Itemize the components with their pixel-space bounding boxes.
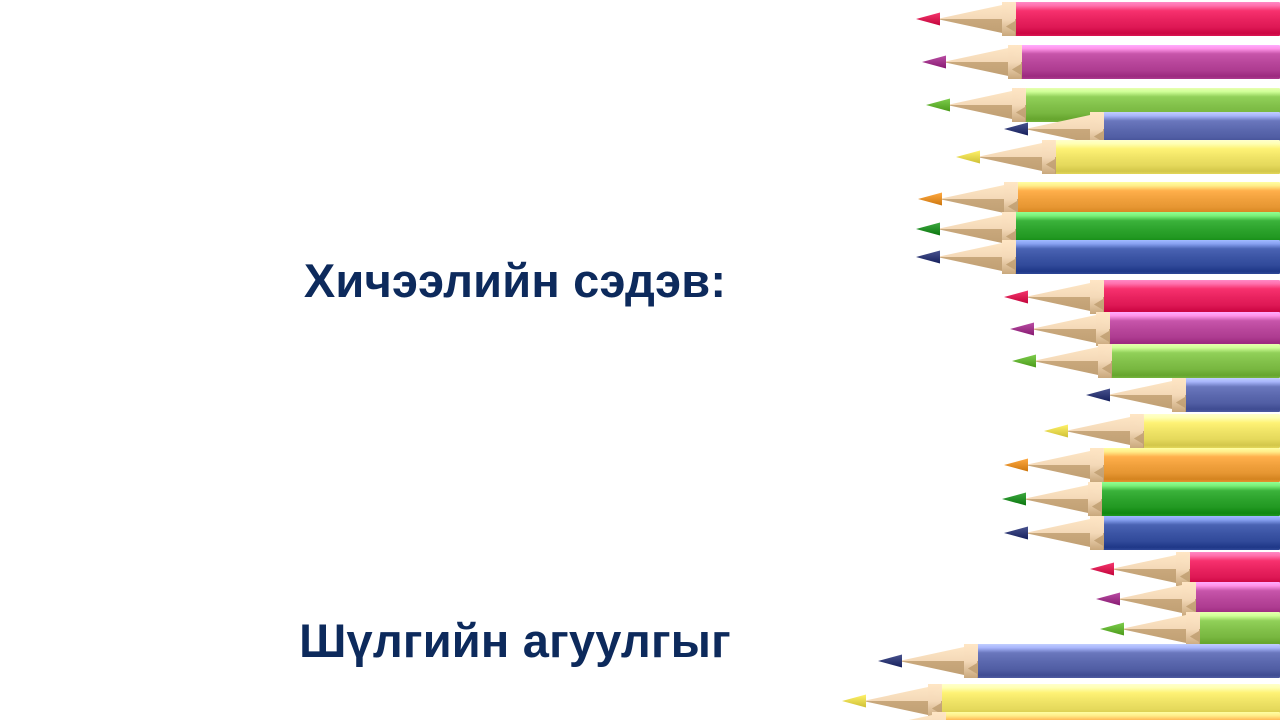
pencil-wood-upper bbox=[1107, 378, 1186, 395]
pencil-wood-lower bbox=[1025, 533, 1104, 550]
pencil-lead-tip bbox=[918, 193, 942, 206]
pencil-wood-upper bbox=[1117, 582, 1196, 599]
slide-subtitle-line-1: Шүлгийн агуулгыг bbox=[120, 610, 910, 671]
pencil-collar bbox=[1004, 182, 1017, 216]
pencil-wood-lower bbox=[899, 661, 978, 678]
pencil bbox=[1002, 482, 1280, 516]
pencil-barrel bbox=[1131, 414, 1280, 448]
pencil-collar bbox=[1090, 280, 1103, 314]
pencil-barrel bbox=[1091, 280, 1280, 314]
pencil-collar bbox=[1090, 112, 1103, 146]
pencil-wood-cone bbox=[1025, 448, 1104, 482]
pencil-collar bbox=[1096, 312, 1109, 346]
pencil-wood-cone bbox=[1111, 552, 1190, 586]
pencil-wood-cone bbox=[1121, 612, 1200, 646]
pencil-wood-lower bbox=[937, 257, 1016, 274]
pencil bbox=[1004, 112, 1280, 146]
slide-title-block: Хичээлийн сэдэв: Шүлгийн агуулгыг зургаа… bbox=[120, 128, 910, 720]
pencil bbox=[1086, 378, 1280, 412]
pencil-wood-lower bbox=[1121, 629, 1200, 646]
pencil bbox=[922, 45, 1280, 79]
pencil-wood-upper bbox=[1033, 344, 1112, 361]
pencil-wood-upper bbox=[1025, 112, 1104, 129]
pencil-wood-cone bbox=[899, 644, 978, 678]
pencil-barrel bbox=[1091, 112, 1280, 146]
pencil-lead-tip bbox=[916, 223, 940, 236]
pencil-collar bbox=[1008, 45, 1021, 79]
pencil-wood-lower bbox=[1107, 395, 1186, 412]
pencil bbox=[1004, 448, 1280, 482]
pencil-wood-cone bbox=[937, 212, 1016, 246]
pencil bbox=[1090, 552, 1280, 586]
pencil-wood-cone bbox=[937, 240, 1016, 274]
pencil-collar bbox=[1042, 140, 1055, 174]
pencil-lead-tip bbox=[916, 13, 940, 26]
pencil-lead-tip bbox=[922, 56, 946, 69]
pencil-collar bbox=[1130, 414, 1143, 448]
pencil-barrel bbox=[1091, 448, 1280, 482]
pencil-collar bbox=[1012, 88, 1025, 122]
pencil-wood-lower bbox=[1031, 329, 1110, 346]
pencil-lead-tip bbox=[1004, 291, 1028, 304]
pencil-wood-cone bbox=[977, 140, 1056, 174]
pencil-barrel bbox=[933, 712, 1280, 720]
pencil bbox=[916, 212, 1280, 246]
pencil-barrel bbox=[1005, 182, 1280, 216]
pencil-barrel bbox=[1183, 582, 1280, 616]
pencil-lead-tip bbox=[1086, 389, 1110, 402]
pencil-lead-tip bbox=[1100, 623, 1124, 636]
pencil-barrel bbox=[1091, 516, 1280, 550]
pencil-wood-upper bbox=[947, 88, 1026, 105]
pencil-wood-upper bbox=[1065, 414, 1144, 431]
pencil bbox=[1096, 582, 1280, 616]
pencil bbox=[1012, 344, 1280, 378]
pencil-wood-upper bbox=[1111, 552, 1190, 569]
pencil-wood-lower bbox=[939, 199, 1018, 216]
pencil-wood-lower bbox=[1111, 569, 1190, 586]
pencil-wood-upper bbox=[943, 45, 1022, 62]
pencil-wood-upper bbox=[1025, 516, 1104, 533]
pencil-wood-lower bbox=[1025, 297, 1104, 314]
pencil-barrel bbox=[1089, 482, 1280, 516]
pencil-barrel bbox=[1187, 612, 1280, 646]
pencil-barrel bbox=[965, 644, 1280, 678]
pencil-barrel bbox=[1003, 2, 1280, 36]
pencil-wood-lower bbox=[1065, 431, 1144, 448]
pencil-collar bbox=[1090, 448, 1103, 482]
pencil bbox=[918, 182, 1280, 216]
pencil-wood-cone bbox=[937, 2, 1016, 36]
pencil-wood-lower bbox=[1033, 361, 1112, 378]
pencil bbox=[1100, 612, 1280, 646]
pencil-collar bbox=[964, 644, 977, 678]
pencil-lead-tip bbox=[1004, 459, 1028, 472]
pencil-wood-upper bbox=[937, 2, 1016, 19]
pencil-collar bbox=[1098, 344, 1111, 378]
pencil-wood-cone bbox=[939, 182, 1018, 216]
pencil-wood-cone bbox=[943, 45, 1022, 79]
pencil-collar bbox=[1172, 378, 1185, 412]
pencil-wood-upper bbox=[1121, 612, 1200, 629]
pencil bbox=[916, 240, 1280, 274]
pencil bbox=[916, 2, 1280, 36]
pencil-wood-lower bbox=[947, 105, 1026, 122]
pencil-barrel bbox=[1177, 552, 1280, 586]
pencil-collar bbox=[1088, 482, 1101, 516]
pencil-wood-cone bbox=[1025, 516, 1104, 550]
pencil-wood-cone bbox=[1117, 582, 1196, 616]
pencil bbox=[956, 140, 1280, 174]
pencil-collar bbox=[1002, 2, 1015, 36]
pencil-barrel bbox=[1173, 378, 1280, 412]
pencil-barrel bbox=[1003, 212, 1280, 246]
pencil-wood-upper bbox=[937, 212, 1016, 229]
page-title: Хичээлийн сэдэв: bbox=[120, 250, 910, 311]
pencil-wood-upper bbox=[1025, 448, 1104, 465]
pencil-barrel bbox=[1099, 344, 1280, 378]
pencil-collar bbox=[1176, 552, 1189, 586]
pencil-wood-upper bbox=[939, 182, 1018, 199]
pencil bbox=[1044, 414, 1280, 448]
pencil-barrel bbox=[1097, 312, 1280, 346]
pencil-lead-tip bbox=[1002, 493, 1026, 506]
pencil-wood-cone bbox=[947, 88, 1026, 122]
pencil-wood-cone bbox=[1025, 280, 1104, 314]
pencil-wood-cone bbox=[1107, 378, 1186, 412]
pencil-wood-lower bbox=[1117, 599, 1196, 616]
pencil-wood-cone bbox=[1065, 414, 1144, 448]
pencil-lead-tip bbox=[1012, 355, 1036, 368]
pencil-barrel bbox=[929, 684, 1280, 718]
pencil-collar bbox=[1186, 612, 1199, 646]
pencil-wood-upper bbox=[977, 140, 1056, 157]
pencil-collar bbox=[1002, 240, 1015, 274]
pencil-barrel bbox=[1013, 88, 1280, 122]
pencil-collar bbox=[1090, 516, 1103, 550]
pencil-lead-tip bbox=[1010, 323, 1034, 336]
pencil-wood-cone bbox=[1025, 112, 1104, 146]
pencil-lead-tip bbox=[1004, 123, 1028, 136]
pencil-barrel bbox=[1003, 240, 1280, 274]
pencil-collar bbox=[1002, 212, 1015, 246]
pencil-lead-tip bbox=[1096, 593, 1120, 606]
pencil-wood-cone bbox=[1023, 482, 1102, 516]
pencil-collar bbox=[932, 712, 945, 720]
pencil bbox=[878, 644, 1280, 678]
presentation-slide: Хичээлийн сэдэв: Шүлгийн агуулгыг зургаа… bbox=[0, 0, 1280, 720]
pencil bbox=[1010, 312, 1280, 346]
pencil-wood-lower bbox=[1023, 499, 1102, 516]
pencil-lead-tip bbox=[1044, 425, 1068, 438]
pencil-lead-tip bbox=[916, 251, 940, 264]
pencil bbox=[1004, 280, 1280, 314]
pencil-wood-lower bbox=[1025, 129, 1104, 146]
pencil-wood-lower bbox=[977, 157, 1056, 174]
pencil-wood-cone bbox=[1031, 312, 1110, 346]
title-spacer bbox=[120, 433, 910, 487]
pencil-wood-cone bbox=[1033, 344, 1112, 378]
pencil bbox=[1004, 516, 1280, 550]
pencil-wood-lower bbox=[937, 19, 1016, 36]
pencil bbox=[926, 88, 1280, 122]
pencil-lead-tip bbox=[1090, 563, 1114, 576]
pencil-wood-upper bbox=[1031, 312, 1110, 329]
pencil-collar bbox=[1182, 582, 1195, 616]
pencil bbox=[846, 712, 1280, 720]
pencil-lead-tip bbox=[1004, 527, 1028, 540]
pencil-barrel bbox=[1043, 140, 1280, 174]
pencil-lead-tip bbox=[926, 99, 950, 112]
pencil-wood-upper bbox=[937, 240, 1016, 257]
pencil-wood-lower bbox=[937, 229, 1016, 246]
pencil-wood-lower bbox=[1025, 465, 1104, 482]
pencil-wood-lower bbox=[943, 62, 1022, 79]
pencil-lead-tip bbox=[956, 151, 980, 164]
pencil-wood-upper bbox=[1025, 280, 1104, 297]
pencil-wood-upper bbox=[1023, 482, 1102, 499]
pencil-collar bbox=[928, 684, 941, 718]
pencil-barrel bbox=[1009, 45, 1280, 79]
pencil-wood-upper bbox=[899, 644, 978, 661]
